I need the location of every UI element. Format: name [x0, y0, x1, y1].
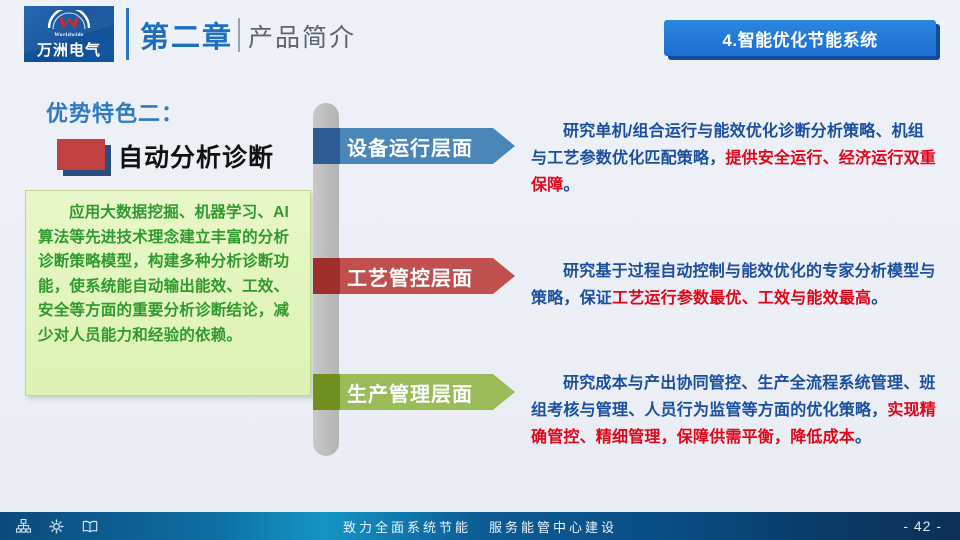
chapter-title: 第二章	[140, 14, 233, 56]
logo-chinese-text: 万洲电气	[24, 39, 114, 60]
feature-title: 优势特色二：	[46, 96, 184, 128]
logo-english-text: Worldwide	[24, 32, 114, 38]
slide-canvas: Worldwide 万洲电气 第二章 产品简介 4.智能优化节能系统 优势特色二…	[0, 0, 960, 540]
arrow-body: 工艺管控层面	[340, 258, 515, 294]
description-callout: 应用大数据挖掘、机器学习、AI算法等先进技术理念建立丰富的分析诊断策略模型，构建…	[25, 190, 311, 396]
paragraph-text-tail: 。	[563, 177, 579, 194]
arrow-cap	[313, 128, 341, 164]
company-logo: Worldwide 万洲电气	[24, 6, 114, 62]
arrow-body: 设备运行层面	[340, 128, 515, 164]
page-number: - 42 -	[903, 512, 942, 540]
arrow-label: 生产管理层面	[340, 378, 473, 407]
level-arrow-equipment[interactable]: 设备运行层面	[313, 128, 515, 164]
footer-slogan-left: 致力全面系统节能	[343, 517, 471, 536]
arrow-label: 设备运行层面	[340, 132, 473, 161]
arrow-body: 生产管理层面	[340, 374, 515, 410]
level-arrow-process[interactable]: 工艺管控层面	[313, 258, 515, 294]
header-divider	[126, 8, 129, 60]
section-banner-label: 4.智能优化节能系统	[722, 26, 877, 51]
paragraph-text-highlight: 工艺运行参数最优、工效与能效最高	[612, 290, 871, 307]
w-emblem-icon	[24, 10, 114, 34]
arrow-cap	[313, 374, 341, 410]
paragraph-text-tail: 。	[871, 290, 887, 307]
chapter-separator	[238, 18, 240, 52]
paragraph-text-tail: 。	[855, 429, 871, 446]
description-text: 应用大数据挖掘、机器学习、AI算法等先进技术理念建立丰富的分析诊断策略模型，构建…	[38, 201, 298, 348]
footer-slogan-right: 服务能管中心建设	[489, 517, 617, 536]
arrow-cap	[313, 258, 341, 294]
level-arrow-production[interactable]: 生产管理层面	[313, 374, 515, 410]
section-banner: 4.智能优化节能系统	[664, 20, 936, 56]
level-paragraph-process: 研究基于过程自动控制与能效优化的专家分析模型与策略，保证工艺运行参数最优、工效与…	[531, 258, 936, 312]
chapter-subtitle: 产品简介	[248, 18, 356, 54]
slide-footer: 致力全面系统节能 服务能管中心建设 - 42 -	[0, 512, 960, 540]
bullet-square-icon	[57, 139, 105, 170]
level-paragraph-production: 研究成本与产出协同管控、生产全流程系统管理、班组考核与管理、人员行为监管等方面的…	[531, 370, 936, 451]
level-paragraph-equipment: 研究单机/组合运行与能效优化诊断分析策略、机组与工艺参数优化匹配策略，提供安全运…	[531, 118, 936, 199]
arrow-label: 工艺管控层面	[340, 262, 473, 291]
slide-header: Worldwide 万洲电气 第二章 产品简介 4.智能优化节能系统	[0, 0, 960, 72]
footer-slogan: 致力全面系统节能 服务能管中心建设	[0, 512, 960, 540]
bullet-label: 自动分析诊断	[118, 138, 274, 174]
paragraph-text-plain: 研究成本与产出协同管控、生产全流程系统管理、班组考核与管理、人员行为监管等方面的…	[531, 375, 936, 419]
